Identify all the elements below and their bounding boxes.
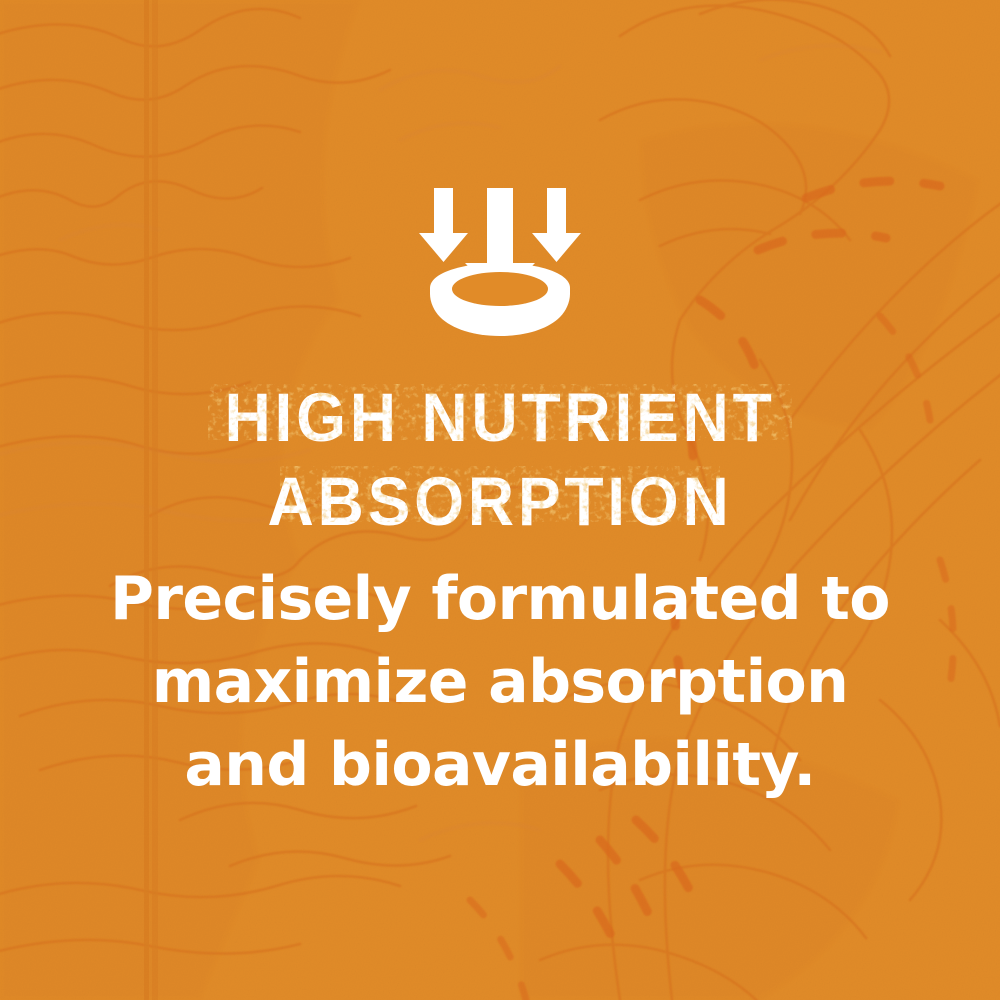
subcopy-line-1: Precisely formulated to [0, 558, 1000, 641]
subcopy-line-2: maximize absorption [0, 641, 1000, 724]
headline-line-1: HIGH NUTRIENT [35, 376, 965, 460]
card-content: HIGH NUTRIENT ABSORPTION Precisely form [0, 0, 1000, 1000]
subcopy-text: Precisely formulated to maximize absorpt… [0, 558, 1000, 807]
page-title: HIGH NUTRIENT ABSORPTION [35, 376, 965, 544]
subcopy-line-3: and bioavailability. [0, 724, 1000, 807]
feature-card: HIGH NUTRIENT ABSORPTION Precisely form [0, 0, 1000, 1000]
headline-line-2: ABSORPTION [35, 460, 965, 544]
icon-container [0, 182, 1000, 342]
pet-bowl-absorption-icon [400, 182, 600, 342]
